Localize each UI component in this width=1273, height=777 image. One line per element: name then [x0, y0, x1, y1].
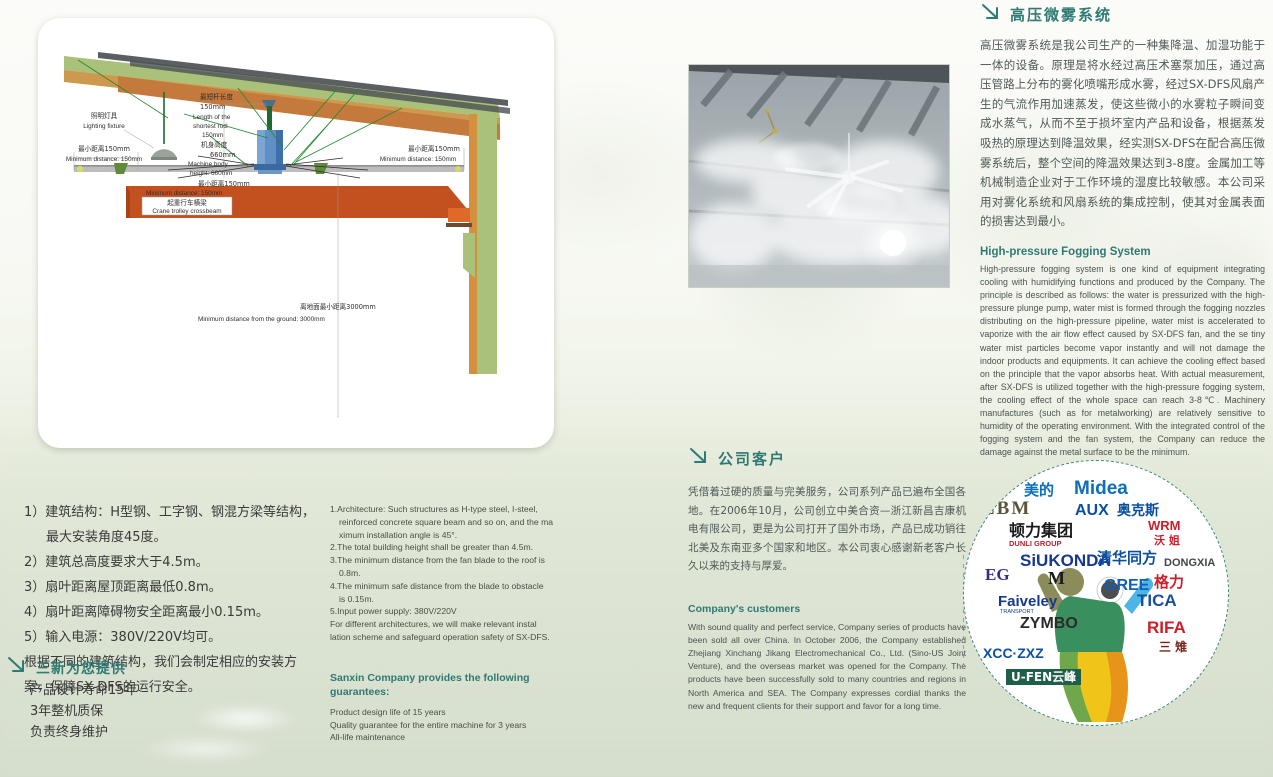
customer-logo-eg: EG — [985, 566, 1010, 583]
customer-logo-dunli-en: DUNLI GROUP — [1009, 540, 1062, 548]
customer-logo-midea-cn: 美的 — [1024, 483, 1054, 498]
diagram-label-mid-dist-cn: 最小距离150mm — [198, 179, 250, 188]
spec-line-en: 4.The minimum safe distance from the bla… — [330, 580, 566, 593]
english-guarantee-block: Sanxin Company provides the following gu… — [330, 671, 566, 744]
diagram-label-lighting-en: Lighting fixture — [83, 123, 125, 130]
fogging-system-section: 高压微雾系统 高压微雾系统是我公司生产的一种集降温、加湿功能于一体的设备。原理是… — [980, 0, 1265, 459]
spec-line-en: 2.The total building height shall be gre… — [330, 541, 566, 554]
customer-logo-aux-cn: 奥克斯 — [1117, 504, 1159, 518]
spec-line-en: is 0.15m. — [330, 593, 566, 606]
customer-logo-zymbo: ZYMBO — [1020, 616, 1078, 632]
customer-logo-dunli-cn: 顿力集团 — [1009, 523, 1073, 539]
guarantee-line-en: Product design life of 15 years — [330, 706, 566, 719]
spec-line-en: 5.Input power supply: 380V/220V — [330, 605, 566, 618]
chinese-guarantee-block: 三新为您提供 产品设计寿命15年 3年整机质保 负责终身维护 — [6, 655, 326, 743]
spec-line-en: 3.The minimum distance from the fan blad… — [330, 554, 566, 567]
diagram-label-body-cn-1: 机身高度 — [201, 140, 228, 149]
guarantee-title-en-line1: Sanxin Company provides the following — [330, 671, 566, 685]
diagram-label-ground-en: Minimum distance from the ground: 3000mm — [198, 316, 325, 323]
diagram-label-body-en-1: Machine body — [188, 161, 229, 168]
diagram-label-rod-en-2: shortest rod: — [193, 123, 229, 130]
diagram-label-rod-en-1: Length of the — [193, 114, 231, 121]
customer-logos-circle: 美的MideaEBMAUX奥克斯顿力集团DUNLI GROUPWRM沃 姐SiU… — [963, 460, 1229, 726]
diagram-label-left-dist-en: Minimum distance: 150mm — [66, 156, 142, 163]
guarantee-title-cn: 三新为您提供 — [36, 658, 126, 678]
spec-line: 3）扇叶距离屋顶距离最低0.8m。 — [24, 575, 334, 600]
diagram-label-rod-en-3: 150mm — [202, 132, 223, 139]
fogging-body-en: High-pressure fogging system is one kind… — [980, 263, 1265, 459]
customer-logo-tica: TICA — [1137, 592, 1177, 609]
customer-logo-tsinghua: 清华同方 — [1097, 551, 1157, 566]
customer-logo-faiveley: Faiveley — [998, 594, 1057, 609]
diagram-label-body-cn-2: 660mm — [210, 151, 235, 159]
customer-logo-aux: AUX — [1075, 503, 1109, 519]
spec-line: 最大安装角度45度。 — [24, 525, 334, 550]
guarantee-line-en: All-life maintenance — [330, 731, 566, 744]
diagram-label-body-en-2: height: 660mm — [190, 170, 232, 177]
diagram-label-crossbeam-cn: 起重行车横梁 — [167, 198, 207, 207]
down-right-arrow-icon — [688, 446, 710, 471]
down-right-arrow-icon — [6, 655, 28, 680]
diagram-label-ground-cn: 离地面最小距离3000mm — [300, 302, 376, 311]
diagram-label-left-dist-cn: 最小距离150mm — [78, 144, 130, 153]
spec-line-en: ximum installation angle is 45°. — [330, 529, 566, 542]
fogging-title-en: High-pressure Fogging System — [980, 246, 1265, 258]
fogging-title-cn: 高压微雾系统 — [1010, 4, 1112, 25]
customers-title-cn: 公司客户 — [718, 448, 786, 469]
guarantee-line: 负责终身维护 — [6, 722, 326, 743]
customer-logo-ebm: EBM — [982, 499, 1031, 518]
diagram-label-rod-cn-2: 150mm — [200, 103, 225, 111]
guarantee-title-en-line2: guarantees: — [330, 685, 566, 699]
diagram-label-crossbeam-en: Crane trolley crossbeam — [152, 208, 221, 215]
customer-logo-wrm-cn: 沃 姐 — [1154, 535, 1180, 546]
customers-section: 公司客户 凭借着过硬的质量与完美服务，公司系列产品已遍布全国各地。在2006年1… — [688, 446, 966, 713]
customers-body-cn: 凭借着过硬的质量与完美服务，公司系列产品已遍布全国各地。在2006年10月，公司… — [688, 483, 966, 576]
customers-title-en: Company's customers — [688, 603, 966, 615]
spec-line: 5）输入电源：380V/220V均可。 — [24, 625, 334, 650]
english-spec-list: 1.Architecture: Such structures as H-typ… — [330, 503, 566, 644]
diagram-label-rod-cn-1: 最短杆长度 — [200, 92, 233, 101]
down-right-arrow-icon — [980, 2, 1002, 27]
spec-line-en: For different architectures, we will mak… — [330, 618, 566, 631]
guarantee-line: 产品设计寿命15年 — [6, 680, 326, 701]
customer-logo-xcc-zxz: XCC·ZXZ — [983, 646, 1044, 660]
diagram-label-right-dist-cn: 最小距离150mm — [408, 144, 460, 153]
spec-line: 4）扇叶距离障碍物安全距离最小0.15m。 — [24, 600, 334, 625]
customer-logo-dongxia: DONGXIA — [1164, 558, 1215, 569]
customer-logo-gree-cn: 格力 — [1154, 575, 1184, 590]
fogging-system-photo — [688, 64, 950, 288]
customer-logo-wrm: WRM — [1148, 519, 1181, 532]
spec-line: 2）建筑总高度要求大于4.5m。 — [24, 550, 334, 575]
spec-line-en: reinforced concrete square beam and so o… — [330, 516, 566, 529]
diagram-label-mid-dist-en: Minimum distance: 150mm — [146, 190, 222, 197]
customer-logo-midea: Midea — [1074, 479, 1128, 498]
customer-logo-rifa: RIFA — [1147, 619, 1186, 636]
installation-diagram-card: .dcn{font-family:"DejaVu Sans","Liberati… — [38, 18, 554, 448]
customer-logo-m-mark: M — [1048, 569, 1065, 587]
customers-body-en: With sound quality and perfect service, … — [688, 621, 966, 713]
diagram-label-lighting-cn: 照明灯具 — [91, 111, 118, 120]
guarantee-line: 3年整机质保 — [6, 701, 326, 722]
customer-logo-sanque-cn: 三 雉 — [1159, 641, 1187, 653]
spec-line-en: 1.Architecture: Such structures as H-typ… — [330, 503, 566, 516]
spec-line-en: 0.8m. — [330, 567, 566, 580]
spec-line: 1）建筑结构：H型钢、工字钢、钢混方梁等结构， — [24, 500, 334, 525]
guarantee-line-en: Quality guarantee for the entire machine… — [330, 719, 566, 732]
fogging-body-cn: 高压微雾系统是我公司生产的一种集降温、加湿功能于一体的设备。原理是将水经过高压术… — [980, 36, 1265, 232]
spec-line-en: lation scheme and safeguard operation sa… — [330, 631, 566, 644]
installation-diagram: .dcn{font-family:"DejaVu Sans","Liberati… — [38, 18, 554, 448]
diagram-label-right-dist-en: Minimum distance: 150mm — [380, 156, 456, 163]
customer-logo-ufen: U-FEN云峰 — [1006, 669, 1081, 685]
fog-photo-illustration — [689, 65, 949, 287]
